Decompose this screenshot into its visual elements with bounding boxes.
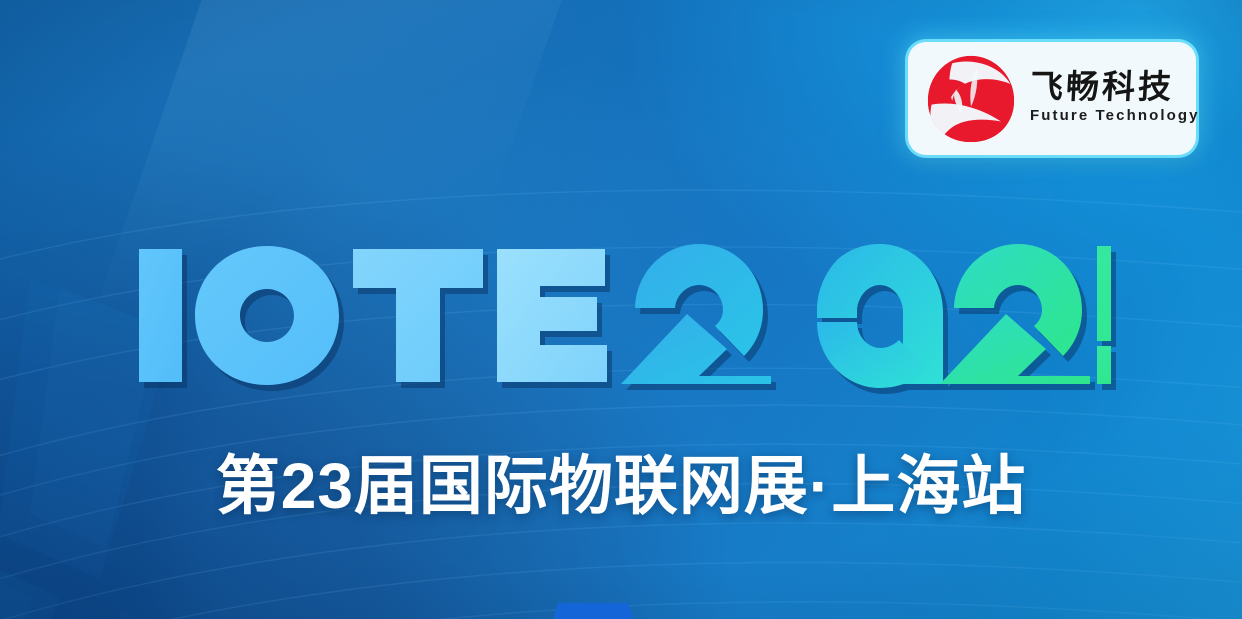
iote-wordmark: [0, 236, 1242, 406]
sponsor-logo-badge[interactable]: 飞畅科技 Future Technology: [908, 42, 1196, 155]
brand-name-cn: 飞畅科技: [1029, 70, 1200, 105]
logo-text-block: 飞畅科技 Future Technology: [1030, 70, 1200, 126]
iote-2025-logotype: [131, 236, 1111, 396]
iote-2025-banner: 飞畅科技 Future Technology: [0, 0, 1242, 619]
event-subtitle: 第23届国际物联网展·上海站: [0, 452, 1242, 521]
brand-name-en: Future Technology: [1030, 108, 1200, 125]
bottom-edge-chip: [553, 603, 633, 619]
feichang-emblem-icon: [924, 52, 1018, 146]
